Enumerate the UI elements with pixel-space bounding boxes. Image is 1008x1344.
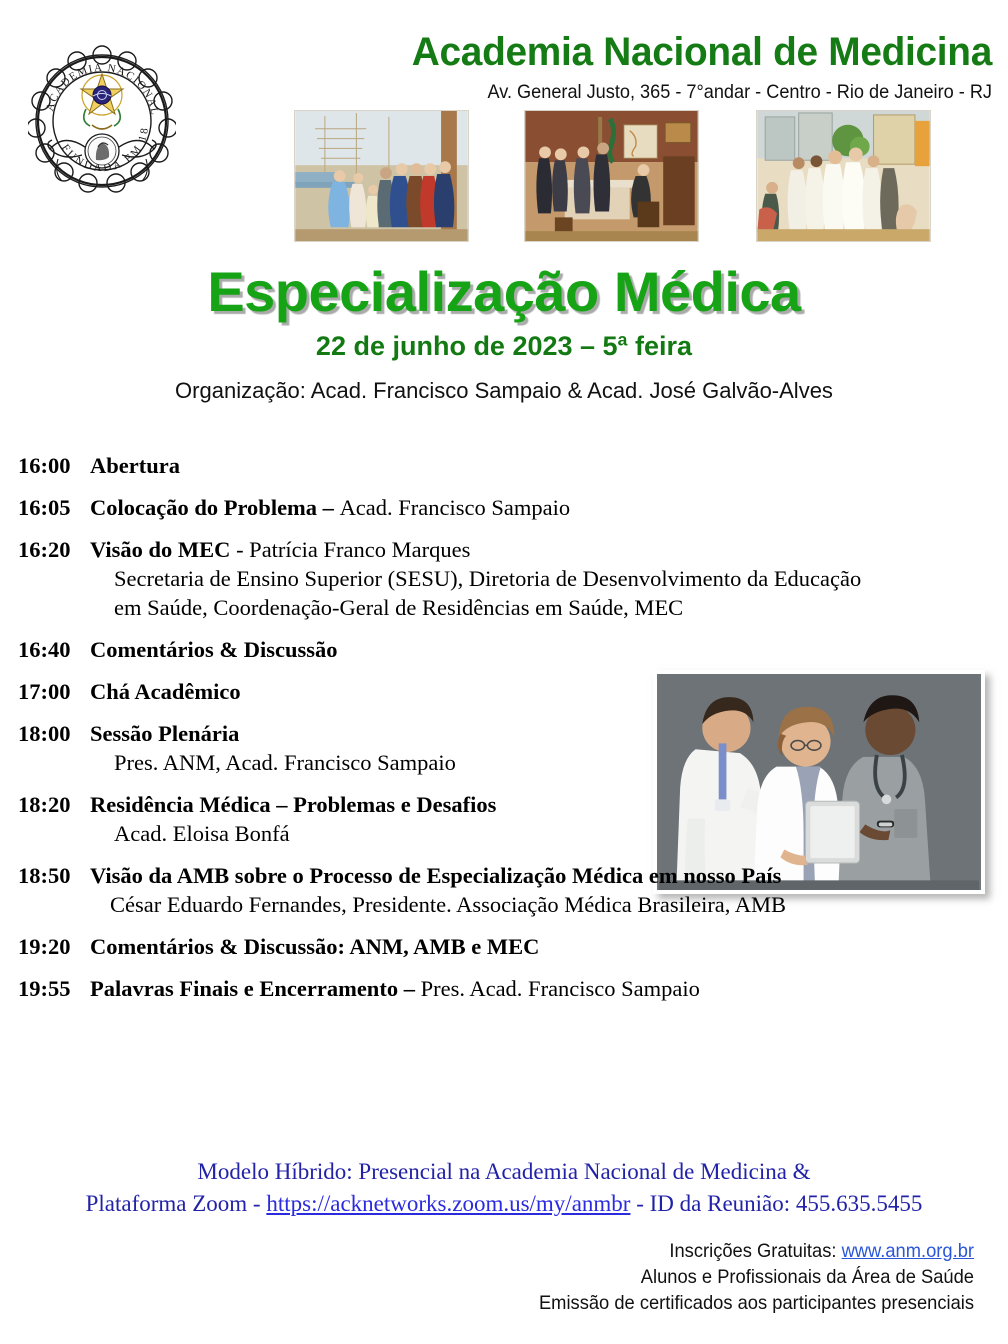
audience-line: Alunos e Profissionais da Área de Saúde xyxy=(58,1264,974,1290)
schedule-detail: Secretaria de Ensino Superior (SESU), Di… xyxy=(18,564,1008,593)
schedule-time: 18:00 xyxy=(18,720,90,748)
schedule-title: Residência Médica – Problemas e Desafios xyxy=(90,792,496,817)
event-date: 22 de junho de 2023 – 5ª feira xyxy=(0,331,1008,362)
schedule-time: 18:50 xyxy=(18,862,90,890)
schedule-row: 16:05Colocação do Problema – Acad. Franc… xyxy=(0,494,1008,522)
painting-academy-meeting-room xyxy=(524,110,699,242)
schedule-title: Abertura xyxy=(90,453,180,478)
schedule-time: 18:20 xyxy=(18,791,90,819)
schedule-title: Comentários & Discussão xyxy=(90,637,338,662)
schedule-row: 16:20Visão do MEC - Patrícia Franco Marq… xyxy=(0,536,1008,622)
schedule-title: Sessão Plenária xyxy=(90,721,239,746)
hybrid-line-1: Modelo Híbrido: Presencial na Academia N… xyxy=(0,1156,1008,1188)
schedule-speaker: Acad. Francisco Sampaio xyxy=(340,495,571,520)
schedule-detail: Acad. Eloisa Bonfá xyxy=(18,819,1008,848)
hybrid-line-2: Plataforma Zoom - https://acknetworks.zo… xyxy=(0,1188,1008,1220)
zoom-platform-label: Plataforma Zoom - xyxy=(86,1191,267,1216)
schedule-time: 16:00 xyxy=(18,452,90,480)
schedule-time: 16:40 xyxy=(18,636,90,664)
event-organizers: Organização: Acad. Francisco Sampaio & A… xyxy=(0,378,1008,404)
schedule-row: 18:00Sessão Plenária Pres. ANM, Acad. Fr… xyxy=(0,720,1008,777)
schedule-detail: César Eduardo Fernandes, Presidente. Ass… xyxy=(18,890,1008,919)
page-title: Especialização Médica xyxy=(0,262,1008,322)
registration-info: Inscrições Gratuitas: www.anm.org.br Alu… xyxy=(58,1238,974,1316)
anm-website-link[interactable]: www.anm.org.br xyxy=(842,1240,974,1262)
schedule-time: 16:20 xyxy=(18,536,90,564)
registration-line: Inscrições Gratuitas: www.anm.org.br xyxy=(58,1238,974,1264)
poster-header: ACADEMIA NACIONAL DE MEDICINA FUNDADA EM… xyxy=(0,0,1008,250)
schedule-detail: em Saúde, Coordenação-Geral de Residênci… xyxy=(18,593,1008,622)
schedule-time: 19:20 xyxy=(18,933,90,961)
schedule-row: 17:00Chá Acadêmico xyxy=(0,678,1008,706)
painting-physicians-in-the-street xyxy=(756,110,931,242)
schedule-row: 18:50Visão da AMB sobre o Processo de Es… xyxy=(0,862,1008,919)
schedule-title: Visão da AMB sobre o Processo de Especia… xyxy=(90,863,781,888)
anm-seal-logo: ACADEMIA NACIONAL DE MEDICINA FUNDADA EM… xyxy=(28,33,176,196)
painting-arrival-at-port xyxy=(294,110,469,242)
schedule-row: 19:55Palavras Finais e Encerramento – Pr… xyxy=(0,975,1008,1003)
schedule-detail: Pres. ANM, Acad. Francisco Sampaio xyxy=(18,748,1008,777)
schedule-row: 18:20Residência Médica – Problemas e Des… xyxy=(0,791,1008,848)
schedule-speaker: - Patrícia Franco Marques xyxy=(230,537,470,562)
schedule-title: Visão do MEC xyxy=(90,537,230,562)
schedule-row: 16:40Comentários & Discussão xyxy=(0,636,1008,664)
institution-address: Av. General Justo, 365 - 7°andar - Centr… xyxy=(237,81,992,104)
schedule-time: 16:05 xyxy=(18,494,90,522)
schedule-row: 16:00Abertura xyxy=(0,452,1008,480)
schedule-title: Comentários & Discussão: ANM, AMB e MEC xyxy=(90,934,539,959)
schedule-title: Palavras Finais e Encerramento – xyxy=(90,976,421,1001)
schedule-title: Colocação do Problema – xyxy=(90,495,340,520)
registration-label: Inscrições Gratuitas: xyxy=(669,1240,841,1262)
schedule-time: 17:00 xyxy=(18,678,90,706)
schedule-title: Chá Acadêmico xyxy=(90,679,241,704)
zoom-meeting-link[interactable]: https://acknetworks.zoom.us/my/anmbr xyxy=(266,1191,630,1216)
hybrid-model-info: Modelo Híbrido: Presencial na Academia N… xyxy=(0,1156,1008,1220)
meeting-id-label: - ID da Reunião: 455.635.5455 xyxy=(630,1191,922,1216)
certificates-line: Emissão de certificados aos participante… xyxy=(58,1290,974,1316)
historical-paintings-strip xyxy=(294,110,944,245)
event-schedule: 16:00Abertura 16:05Colocação do Problema… xyxy=(0,452,1008,1017)
schedule-speaker: Pres. Acad. Francisco Sampaio xyxy=(421,976,700,1001)
schedule-row: 19:20Comentários & Discussão: ANM, AMB e… xyxy=(0,933,1008,961)
schedule-time: 19:55 xyxy=(18,975,90,1003)
institution-title: Academia Nacional de Medicina xyxy=(204,30,992,74)
